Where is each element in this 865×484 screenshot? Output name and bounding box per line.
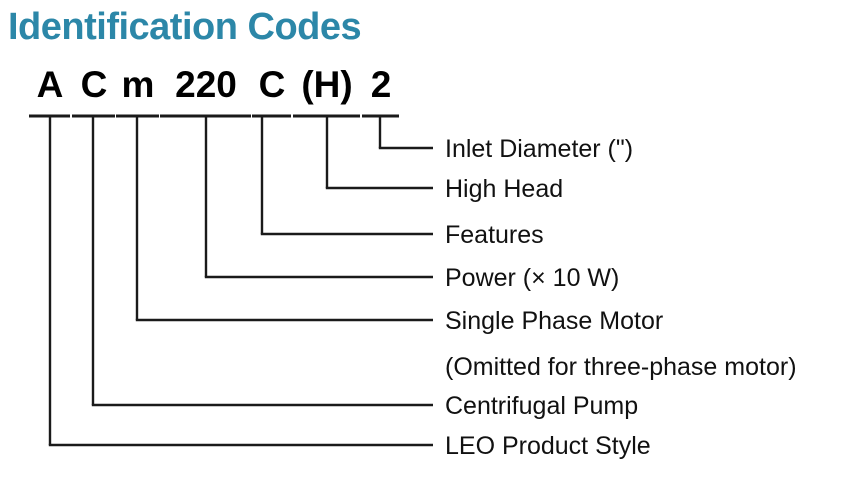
page-title: Identification Codes bbox=[8, 2, 361, 52]
code-token-0: A bbox=[30, 62, 70, 108]
code-token-4: C bbox=[253, 62, 291, 108]
leader-label-features: Features bbox=[445, 220, 544, 250]
leader-label-power: Power (× 10 W) bbox=[445, 263, 619, 293]
identification-codes-diagram: Identification Codes ACm220C(H)2 Inlet D… bbox=[0, 0, 865, 484]
leader-label-high-head: High Head bbox=[445, 174, 563, 204]
code-token-6: 2 bbox=[363, 62, 399, 108]
leader-sublabel-single-phase-motor: (Omitted for three-phase motor) bbox=[445, 352, 797, 382]
leader-label-leo-product-style: LEO Product Style bbox=[445, 431, 651, 461]
leader-label-single-phase-motor: Single Phase Motor bbox=[445, 306, 663, 336]
leader-label-centrifugal-pump: Centrifugal Pump bbox=[445, 391, 638, 421]
leader-label-inlet-diameter: Inlet Diameter (") bbox=[445, 134, 633, 164]
code-token-1: C bbox=[73, 62, 115, 108]
code-token-2: m bbox=[117, 62, 159, 108]
code-token-3: 220 bbox=[161, 62, 251, 108]
code-token-5: (H) bbox=[294, 62, 360, 108]
